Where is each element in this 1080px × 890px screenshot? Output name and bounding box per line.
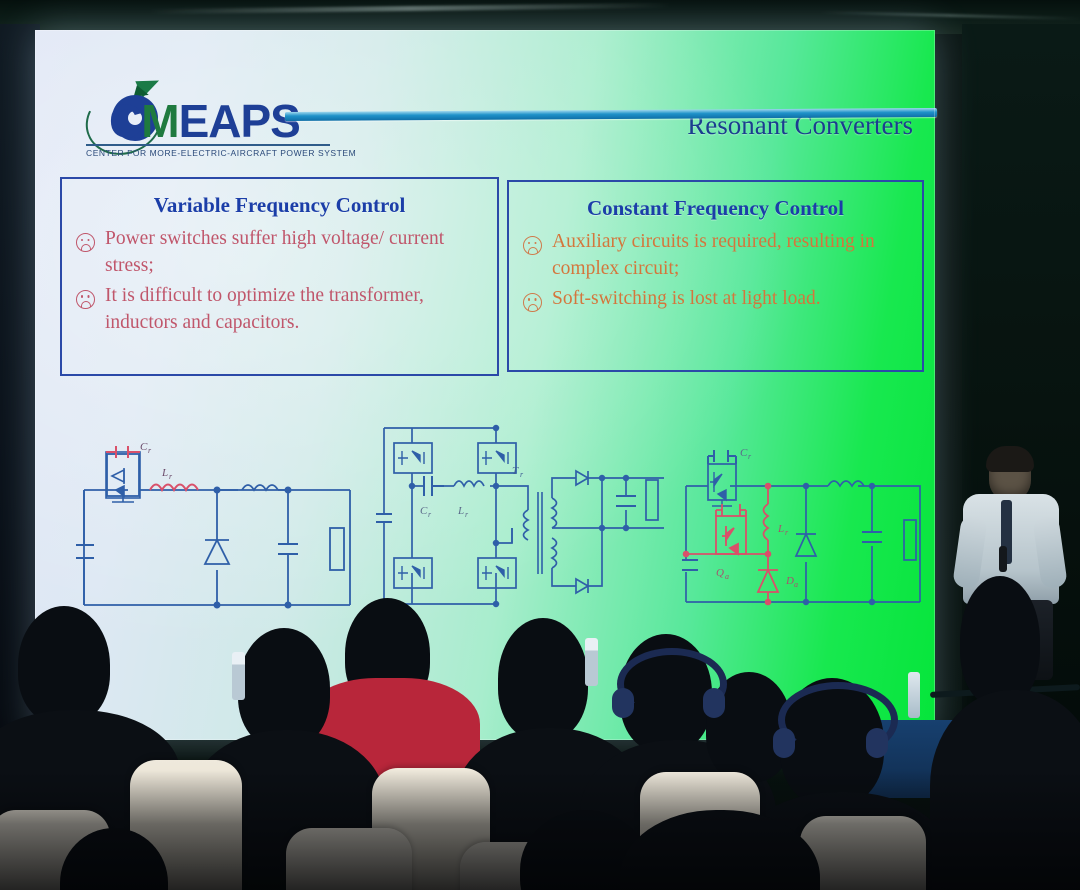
svg-text:r: r	[520, 470, 524, 479]
logo-underline	[86, 144, 330, 146]
sad-face-icon	[76, 233, 95, 252]
bullet-list: Power switches suffer high voltage/ curr…	[62, 226, 497, 337]
svg-text:r: r	[169, 472, 173, 481]
water-bottle	[585, 638, 598, 686]
audience-head	[18, 606, 110, 724]
callout-box-variable-frequency: Variable Frequency Control Power switche…	[60, 177, 499, 376]
audience-head	[498, 618, 588, 740]
svg-text:r: r	[428, 510, 432, 519]
svg-text:L: L	[161, 467, 168, 479]
audience-head	[960, 576, 1040, 706]
water-bottle	[232, 652, 245, 700]
logo-subtitle: CENTER FOR MORE-ELECTRIC-AIRCRAFT POWER …	[86, 148, 356, 158]
svg-text:r: r	[785, 528, 789, 537]
bullet-text: It is difficult to optimize the transfor…	[105, 283, 487, 337]
bullet-text: Auxiliary circuits is required, resultin…	[552, 229, 912, 283]
list-item: Soft-switching is lost at light load.	[523, 286, 912, 313]
bullet-text: Soft-switching is lost at light load.	[552, 286, 821, 313]
bullet-list: Auxiliary circuits is required, resultin…	[509, 229, 922, 313]
box-heading: Constant Frequency Control	[509, 196, 922, 221]
presenter-hair	[986, 446, 1034, 472]
svg-text:T: T	[512, 465, 519, 477]
list-item: Power switches suffer high voltage/ curr…	[76, 226, 487, 280]
svg-text:C: C	[740, 447, 748, 459]
svg-text:r: r	[148, 446, 152, 455]
svg-text:r: r	[465, 510, 469, 519]
screenshot-root: CMEAPS CENTER FOR MORE-ELECTRIC-AIRCRAFT…	[0, 0, 1080, 890]
callout-box-constant-frequency: Constant Frequency Control Auxiliary cir…	[507, 180, 924, 372]
sad-face-icon	[523, 293, 542, 312]
list-item: It is difficult to optimize the transfor…	[76, 283, 487, 337]
svg-text:L: L	[457, 505, 464, 517]
headphone-cup-icon	[866, 728, 888, 758]
headphone-cup-icon	[612, 688, 634, 718]
headphone-cup-icon	[703, 688, 725, 718]
list-item: Auxiliary circuits is required, resultin…	[523, 229, 912, 283]
sad-face-icon	[76, 290, 95, 309]
svg-text:L: L	[777, 523, 784, 535]
sad-face-icon	[523, 236, 542, 255]
foreground-shadow	[0, 770, 1080, 890]
svg-text:r: r	[748, 452, 752, 461]
svg-text:C: C	[140, 441, 148, 453]
bullet-text: Power switches suffer high voltage/ curr…	[105, 226, 487, 280]
logo-wordmark: CMEAPS	[109, 94, 300, 148]
box-heading: Variable Frequency Control	[62, 193, 497, 218]
svg-text:C: C	[420, 505, 428, 517]
headphone-cup-icon	[773, 728, 795, 758]
